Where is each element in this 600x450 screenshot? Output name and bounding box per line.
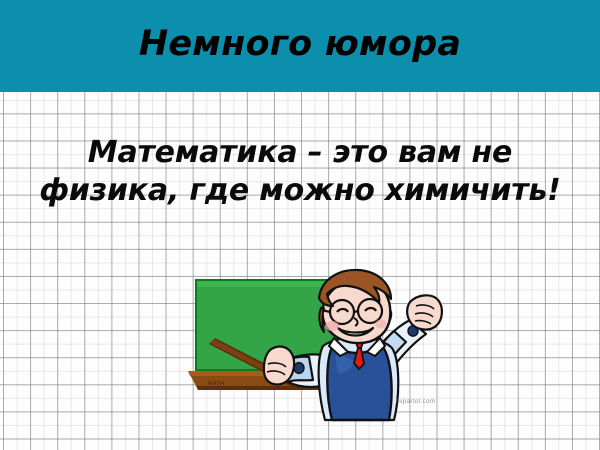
joke-line-1: Математика – это вам не (0, 134, 600, 172)
title-banner: Немного юмора (0, 0, 600, 92)
joke-text-block: Математика – это вам не физика, где можн… (0, 134, 600, 210)
page-title: Немного юмора (139, 27, 461, 66)
ledge-label: MATH (208, 381, 224, 387)
teacher-head (319, 270, 391, 343)
joke-line-2: физика, где можно химичить! (0, 172, 600, 210)
teacher-illustration (182, 268, 452, 430)
slide-canvas: Немного юмора Математика – это вам не фи… (0, 0, 600, 450)
raised-hand-icon (407, 295, 442, 329)
illustration-watermark: clipartof.com (396, 399, 435, 405)
pointing-hand-icon (264, 347, 294, 385)
